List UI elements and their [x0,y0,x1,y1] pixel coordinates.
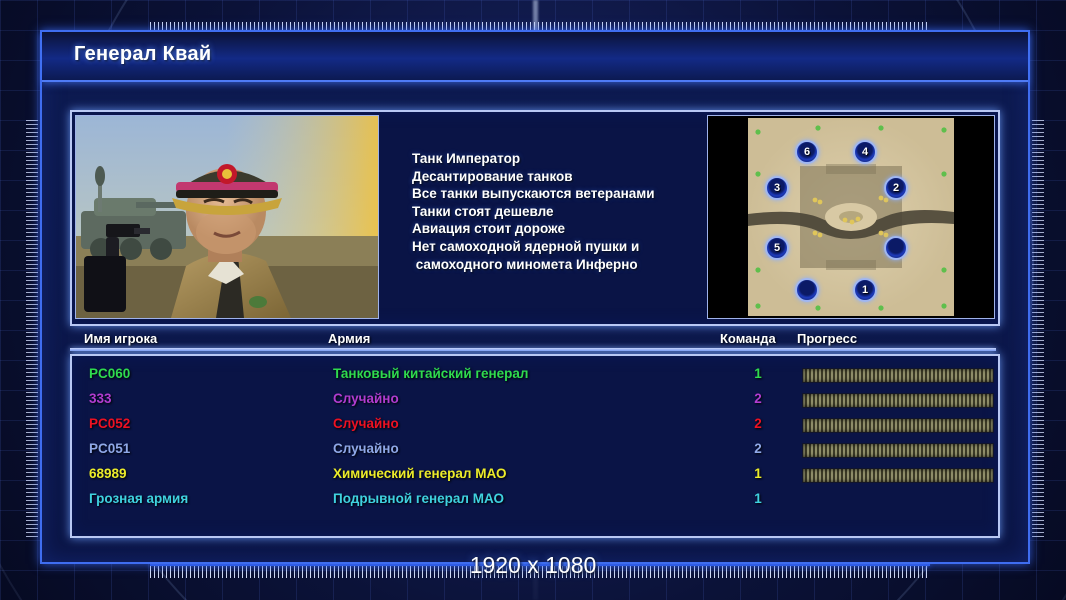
minimap-start-position[interactable]: 1 [853,278,877,302]
game-options-window: Генерал Квай [40,30,1030,564]
frame-ruler-right [1032,120,1044,540]
player-progress-bar [802,368,994,383]
player-team: 1 [747,466,769,481]
player-army: Подрывной генерал МАО [333,491,504,506]
player-army: Случайно [333,441,399,456]
column-header-progress: Прогресс [797,331,857,346]
player-team: 2 [747,441,769,456]
column-header-team: Команда [720,331,776,346]
player-name: PC051 [89,441,130,456]
column-header-army: Армия [328,331,370,346]
minimap-image [748,118,954,316]
table-row[interactable]: PC051Случайно2 [75,438,995,463]
player-team: 1 [747,491,769,506]
player-name: 68989 [89,466,127,481]
table-row[interactable]: 333Случайно2 [75,388,995,413]
frame-ruler-left [26,120,38,540]
player-name: PC052 [89,416,130,431]
player-army: Случайно [333,391,399,406]
player-progress-bar [802,443,994,458]
general-info-panel: Танк Император Десантирование танков Все… [70,110,1000,326]
window-titlebar: Генерал Квай [42,32,1028,82]
resolution-label: 1920 x 1080 [0,552,1066,579]
minimap-start-position[interactable]: 4 [853,140,877,164]
players-table-rows: PC060Танковый китайский генерал1333Случа… [75,359,995,533]
minimap-start-position[interactable]: 3 [765,176,789,200]
minimap-start-position[interactable] [795,278,819,302]
minimap-start-position[interactable]: 2 [884,176,908,200]
player-progress-bar [802,418,994,433]
header-divider [70,348,996,351]
table-row[interactable]: PC060Танковый китайский генерал1 [75,363,995,388]
general-description: Танк Император Десантирование танков Все… [412,150,655,273]
player-progress-bar [802,468,994,483]
general-portrait [75,115,379,319]
player-army: Танковый китайский генерал [333,366,529,381]
player-team: 1 [747,366,769,381]
minimap-panel[interactable]: 643251 [707,115,995,319]
player-army: Химический генерал МАО [333,466,507,481]
minimap-start-position[interactable]: 6 [795,140,819,164]
page-title: Генерал Квай [74,43,212,66]
player-name: Грозная армия [89,491,188,506]
table-row[interactable]: Грозная армияПодрывной генерал МАО1 [75,488,995,513]
general-portrait-image [76,116,378,318]
minimap-start-position[interactable] [884,236,908,260]
player-army: Случайно [333,416,399,431]
column-header-player-name: Имя игрока [84,331,157,346]
player-name: 333 [89,391,112,406]
minimap-start-position[interactable]: 5 [765,236,789,260]
players-table-panel: PC060Танковый китайский генерал1333Случа… [70,354,1000,538]
table-row[interactable]: PC052Случайно2 [75,413,995,438]
player-name: PC060 [89,366,130,381]
table-row[interactable]: 68989Химический генерал МАО1 [75,463,995,488]
player-team: 2 [747,416,769,431]
player-progress-bar [802,393,994,408]
player-team: 2 [747,391,769,406]
